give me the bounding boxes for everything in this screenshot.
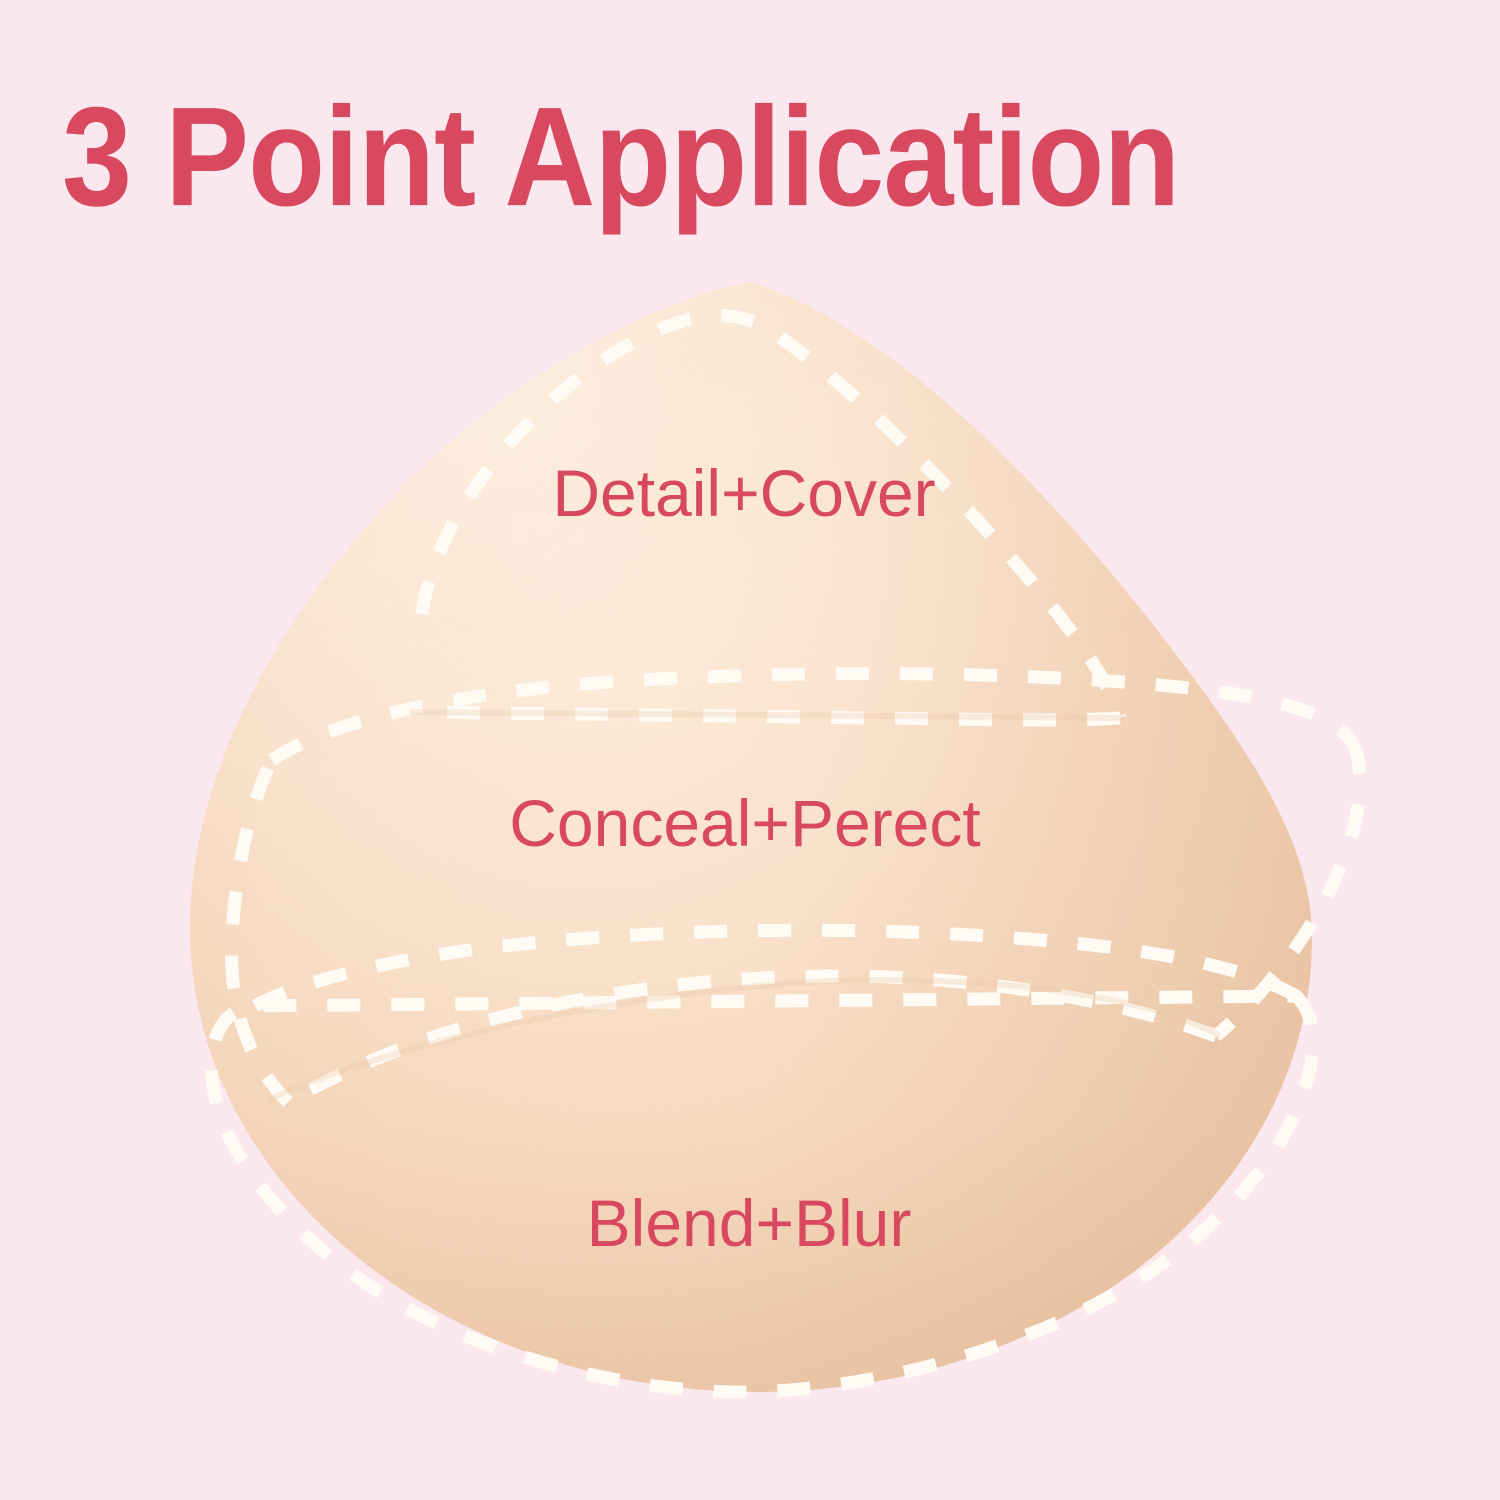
region-label-blend-blur: Blend+Blur	[0, 1185, 1499, 1261]
region-label-detail-cover: Detail+Cover	[0, 455, 1494, 531]
product-infographic: 3 Point Application	[0, 0, 1500, 1500]
sponge-graphic	[0, 0, 1500, 1500]
sponge-illustration	[0, 0, 1500, 1500]
sponge-body	[0, 0, 1500, 1500]
region-label-conceal-perect: Conceal+Perect	[0, 785, 1495, 861]
